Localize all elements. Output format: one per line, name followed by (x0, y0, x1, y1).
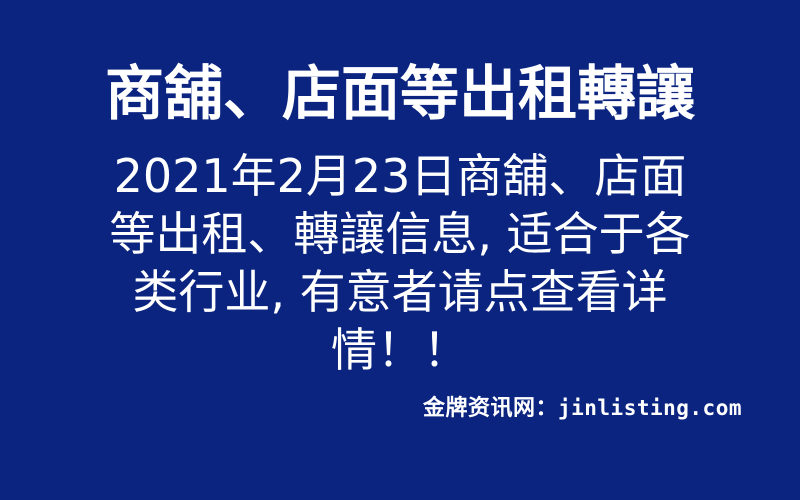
body-line: 2021年2月23日商舖、店面 (55, 147, 745, 205)
watermark-footer: 金牌资讯网：jinlisting.com (423, 393, 742, 426)
banner-body-text: 2021年2月23日商舖、店面 等出租、轉讓信息, 适合于各 类行业, 有意者请… (55, 147, 745, 379)
promo-banner: 商舖、店面等出租轉讓 2021年2月23日商舖、店面 等出租、轉讓信息, 适合于… (0, 0, 800, 500)
site-url-label: jinlisting.com (558, 396, 742, 420)
body-line: 类行业, 有意者请点查看详 (55, 263, 745, 321)
body-line: 等出租、轉讓信息, 适合于各 (55, 205, 745, 263)
body-line: 情！！ (55, 321, 745, 379)
banner-headline: 商舖、店面等出租轉讓 (0, 58, 800, 130)
site-name-label: 金牌资讯网： (423, 396, 558, 421)
